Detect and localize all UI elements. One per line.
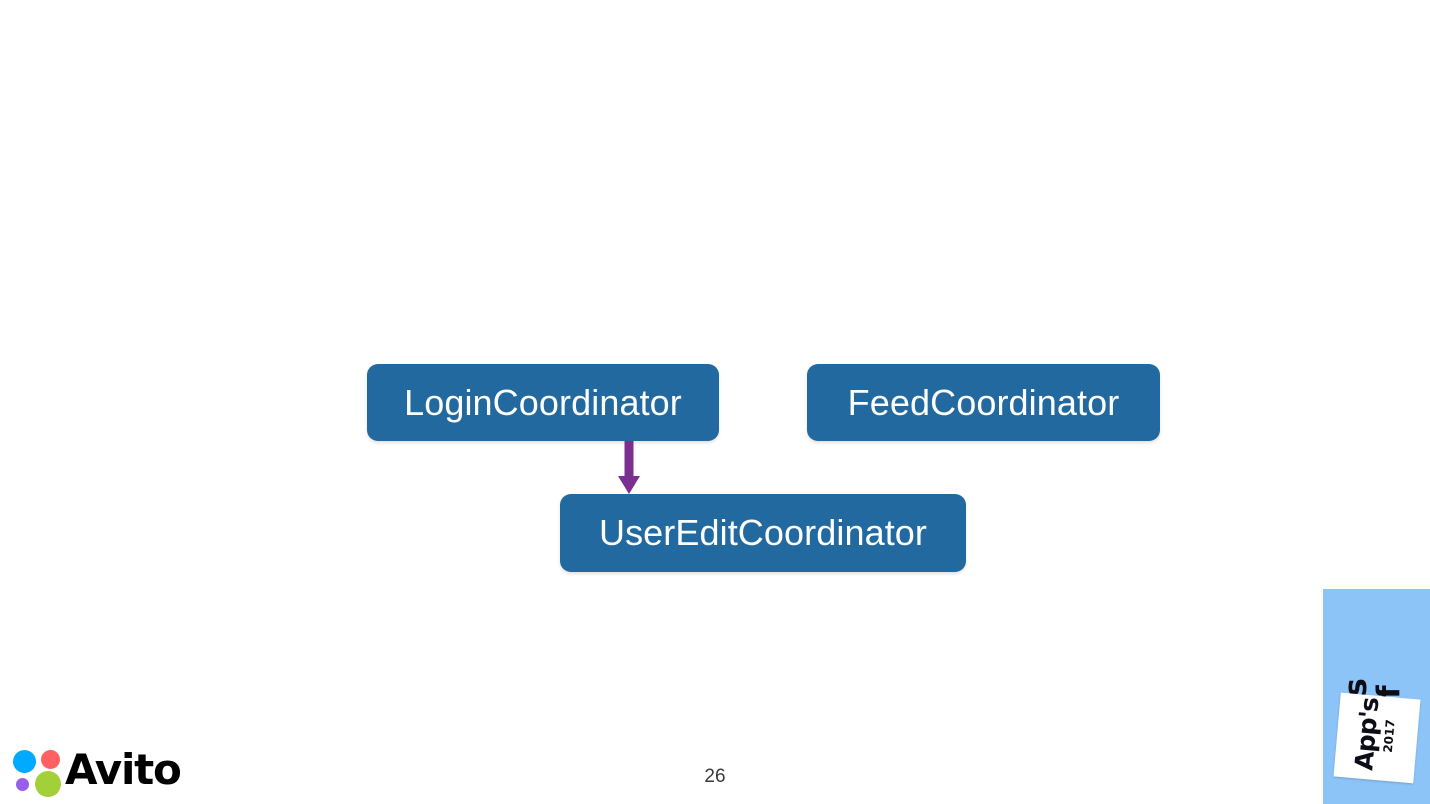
avito-dot-red-icon — [41, 750, 60, 769]
appsconf-card-text: App's — [1351, 695, 1384, 773]
node-label: UserEditCoordinator — [599, 515, 927, 551]
arrow-login-to-useredit — [618, 441, 640, 494]
node-label: LoginCoordinator — [404, 385, 682, 421]
avito-dot-blue-icon — [13, 750, 36, 773]
avito-dot-green-icon — [35, 771, 61, 797]
avito-dots-mark — [8, 744, 63, 796]
diagram-node-feed-coordinator[interactable]: FeedCoordinator — [807, 364, 1160, 441]
arrow-head-icon — [618, 476, 640, 494]
diagram-node-login-coordinator[interactable]: LoginCoordinator — [367, 364, 719, 441]
avito-wordmark: Avito — [65, 747, 181, 793]
diagram-node-useredit-coordinator[interactable]: UserEditCoordinator — [560, 494, 966, 572]
appsconf-logo-panel: Apps Conf App's 2017 — [1323, 589, 1430, 804]
avito-dot-purple-icon — [16, 778, 29, 791]
slide-canvas: LoginCoordinator FeedCoordinator UserEdi… — [0, 0, 1430, 804]
appsconf-card-year: 2017 — [1380, 710, 1398, 763]
appsconf-card: App's 2017 — [1333, 693, 1420, 784]
page-number: 26 — [0, 766, 1430, 788]
avito-logo: Avito — [8, 744, 176, 796]
node-label: FeedCoordinator — [848, 385, 1120, 421]
appsconf-card-inner: App's 2017 — [1333, 693, 1420, 784]
